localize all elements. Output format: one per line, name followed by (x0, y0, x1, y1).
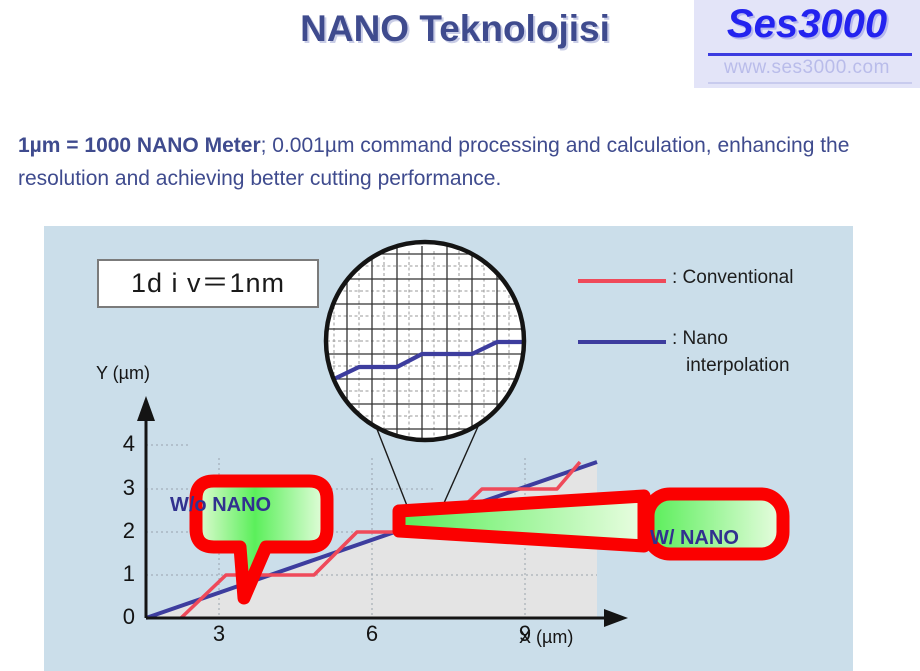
logo-divider (708, 53, 912, 56)
callout-label-w-nano: W/ NANO (650, 527, 739, 550)
page-title: NANO Teknolojisi (255, 8, 655, 50)
brand-logo: Ses3000 www.ses3000.com (694, 0, 920, 88)
x-tick-9: 9 (513, 621, 537, 647)
scale-note-box: 1d i v＝1nm (97, 259, 319, 308)
y-axis-arrow (137, 396, 155, 421)
intro-paragraph: 1µm = 1000 NANO Meter; 0.001µm command p… (18, 129, 902, 195)
brand-url: www.ses3000.com (694, 57, 920, 79)
y-tick-0: 0 (113, 604, 135, 630)
magnifier-inset (322, 242, 604, 441)
y-tick-3: 3 (113, 475, 135, 501)
y-tick-2: 2 (113, 518, 135, 544)
logo-divider-bottom (708, 82, 912, 84)
legend-swatch-nano (578, 340, 666, 344)
legend-swatch-conventional (578, 279, 666, 283)
y-tick-4: 4 (113, 431, 135, 457)
y-axis-title: Y (µm) (96, 363, 150, 384)
scale-note-text: 1d i v＝1nm (99, 261, 317, 306)
x-tick-3: 3 (207, 621, 231, 647)
callout-pointer (399, 496, 644, 546)
legend-label-conventional: : Conventional (672, 267, 793, 289)
legend-label-nano-sub: interpolation (686, 355, 790, 377)
legend-label-nano: : Nano (672, 328, 728, 350)
x-axis-arrow (604, 609, 628, 627)
x-tick-6: 6 (360, 621, 384, 647)
callout-label-wo-nano: W/o NANO (170, 494, 271, 517)
intro-bold-lead: 1µm = 1000 NANO Meter (18, 134, 261, 157)
y-tick-1: 1 (113, 561, 135, 587)
brand-name: Ses3000 (694, 2, 920, 47)
